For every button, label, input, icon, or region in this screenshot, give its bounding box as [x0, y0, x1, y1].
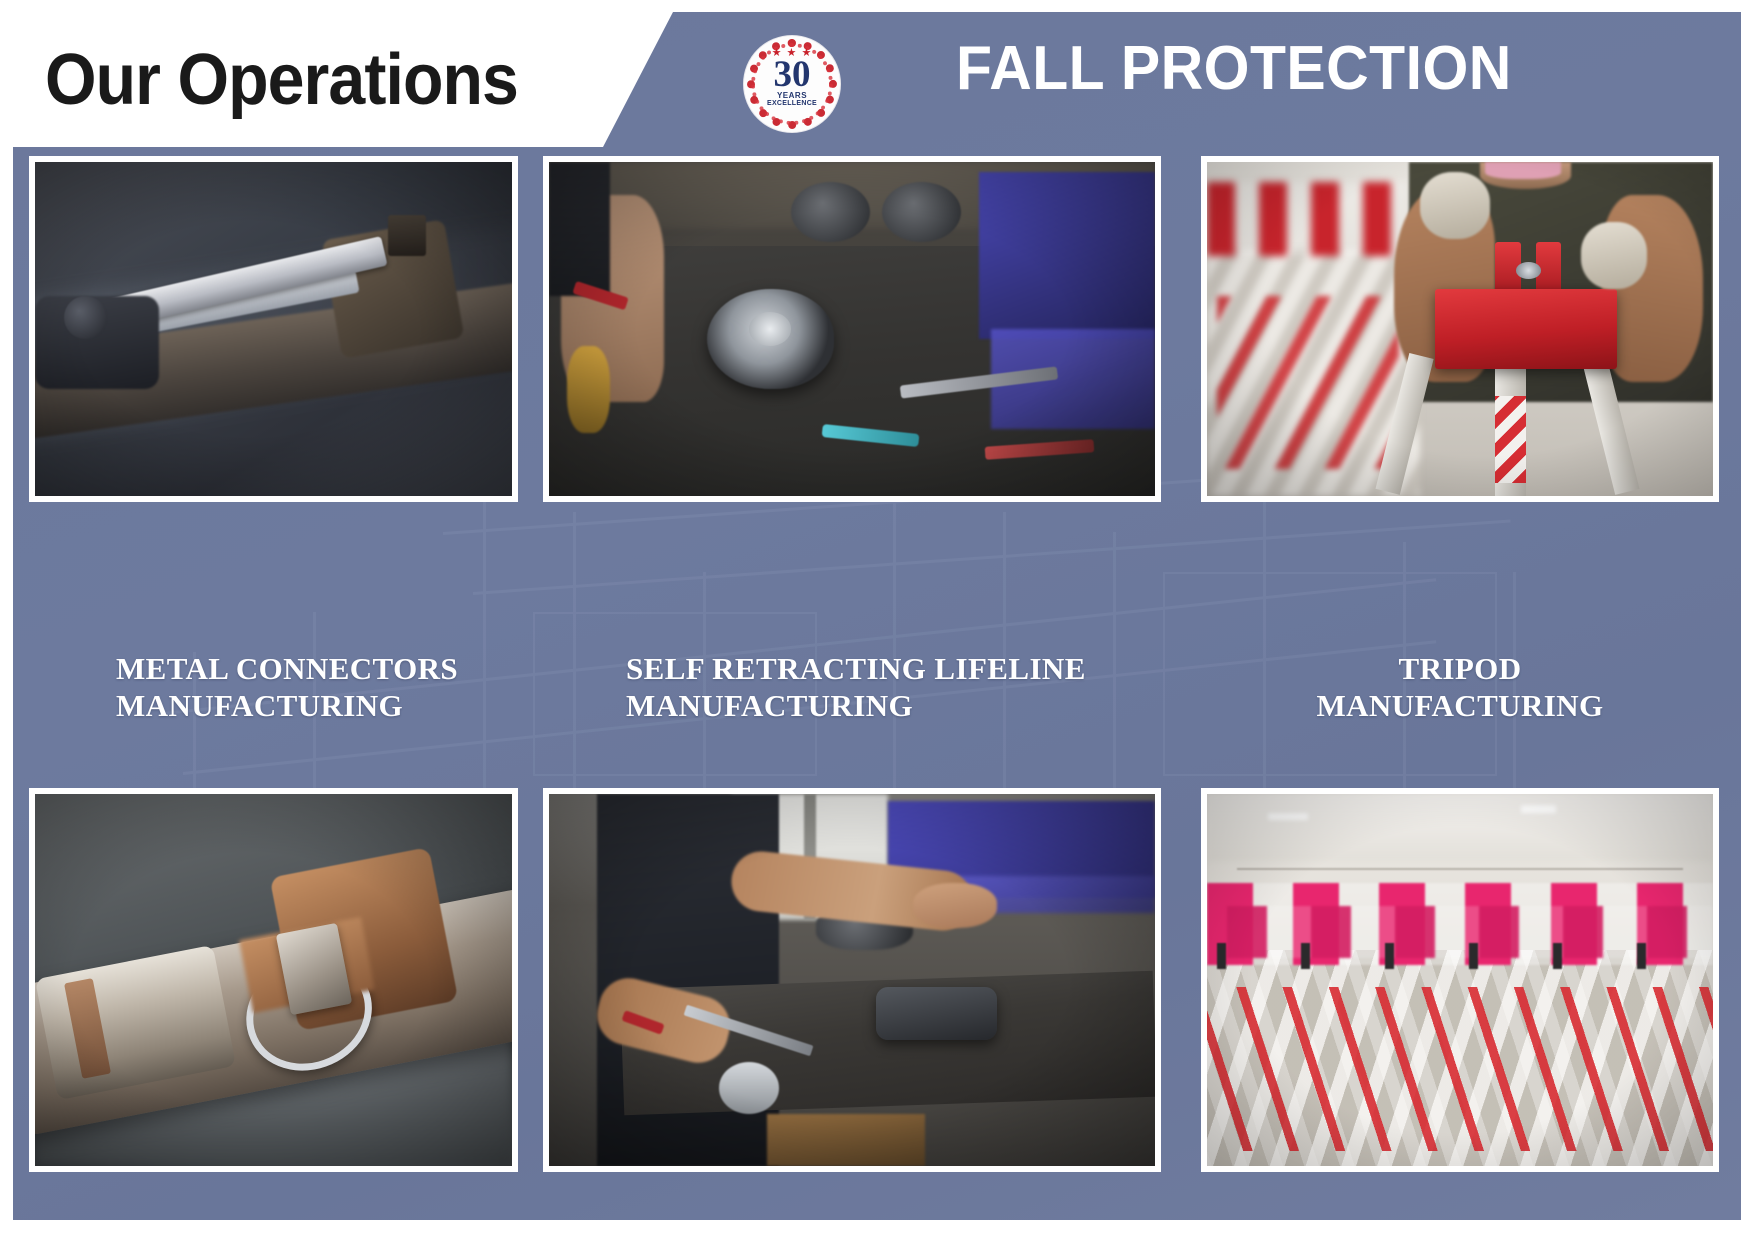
photo-srl-top — [543, 156, 1161, 502]
section-title: FALL PROTECTION — [956, 38, 1512, 100]
badge-excellence-label: EXCELLENCE — [767, 100, 817, 108]
caption-self-retracting-lifeline: SELF RETRACTING LIFELINE MANUFACTURING — [626, 650, 1186, 724]
header-band: Our Operations ★ ★ ★ 30 YEARS EXCELLENCE… — [13, 12, 1741, 147]
badge-years-label: YEARS — [777, 92, 807, 100]
page-title: Our Operations — [45, 44, 518, 116]
photo-metal-connectors-bottom — [29, 788, 518, 1172]
badge-number: 30 — [774, 58, 811, 92]
photo-metal-connectors-top — [29, 156, 518, 502]
caption-metal-connectors: METAL CONNECTORS MANUFACTURING — [116, 650, 536, 724]
photo-tripod-top — [1201, 156, 1719, 502]
caption-tripod: TRIPOD MANUFACTURING — [1201, 650, 1719, 724]
photo-srl-bottom — [543, 788, 1161, 1172]
slide-canvas: Our Operations ★ ★ ★ 30 YEARS EXCELLENCE… — [13, 12, 1741, 1220]
title-plate: Our Operations — [13, 12, 673, 147]
photo-tripod-bottom — [1201, 788, 1719, 1172]
anniversary-badge-icon: ★ ★ ★ 30 YEARS EXCELLENCE — [744, 36, 840, 132]
